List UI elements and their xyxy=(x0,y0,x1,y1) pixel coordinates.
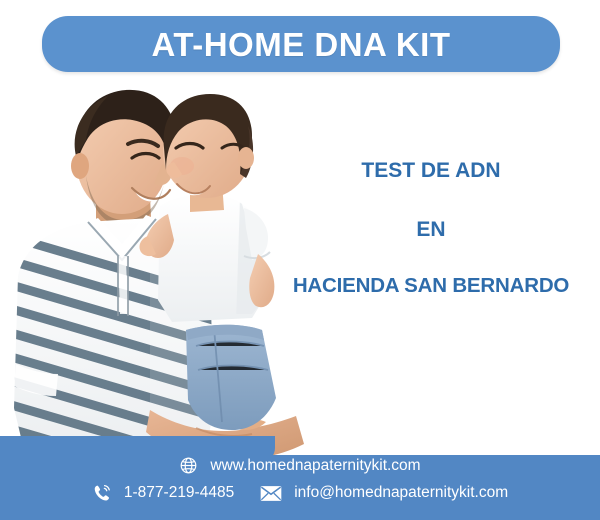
footer-phone-item[interactable]: 1-877-219-4485 xyxy=(92,483,234,503)
headline-block: TEST DE ADN EN HACIENDA SAN BERNARDO xyxy=(262,160,600,297)
footer-phone-text: 1-877-219-4485 xyxy=(124,485,234,501)
envelope-icon xyxy=(260,485,282,502)
headline-line-1: TEST DE ADN xyxy=(262,160,600,181)
footer-email-text: info@homednapaternitykit.com xyxy=(294,485,508,501)
header-title: AT-HOME DNA KIT xyxy=(152,28,451,61)
footer-website-text: www.homednapaternitykit.com xyxy=(210,458,420,474)
footer-row-phone-email: 1-877-219-4485 info@homednapaternitykit.… xyxy=(0,483,600,503)
headline-line-2: EN xyxy=(262,219,600,240)
header-banner: AT-HOME DNA KIT xyxy=(42,16,560,72)
footer-contact-info: www.homednapaternitykit.com 1-877-219-44… xyxy=(0,436,600,520)
headline-line-3: HACIENDA SAN BERNARDO xyxy=(262,276,600,297)
poster-canvas: AT-HOME DNA KIT xyxy=(0,0,600,520)
footer-email-item[interactable]: info@homednapaternitykit.com xyxy=(260,485,508,502)
globe-icon xyxy=(179,456,198,475)
footer-website-item[interactable]: www.homednapaternitykit.com xyxy=(179,456,420,475)
footer-row-website: www.homednapaternitykit.com xyxy=(0,456,600,475)
phone-icon xyxy=(92,483,112,503)
